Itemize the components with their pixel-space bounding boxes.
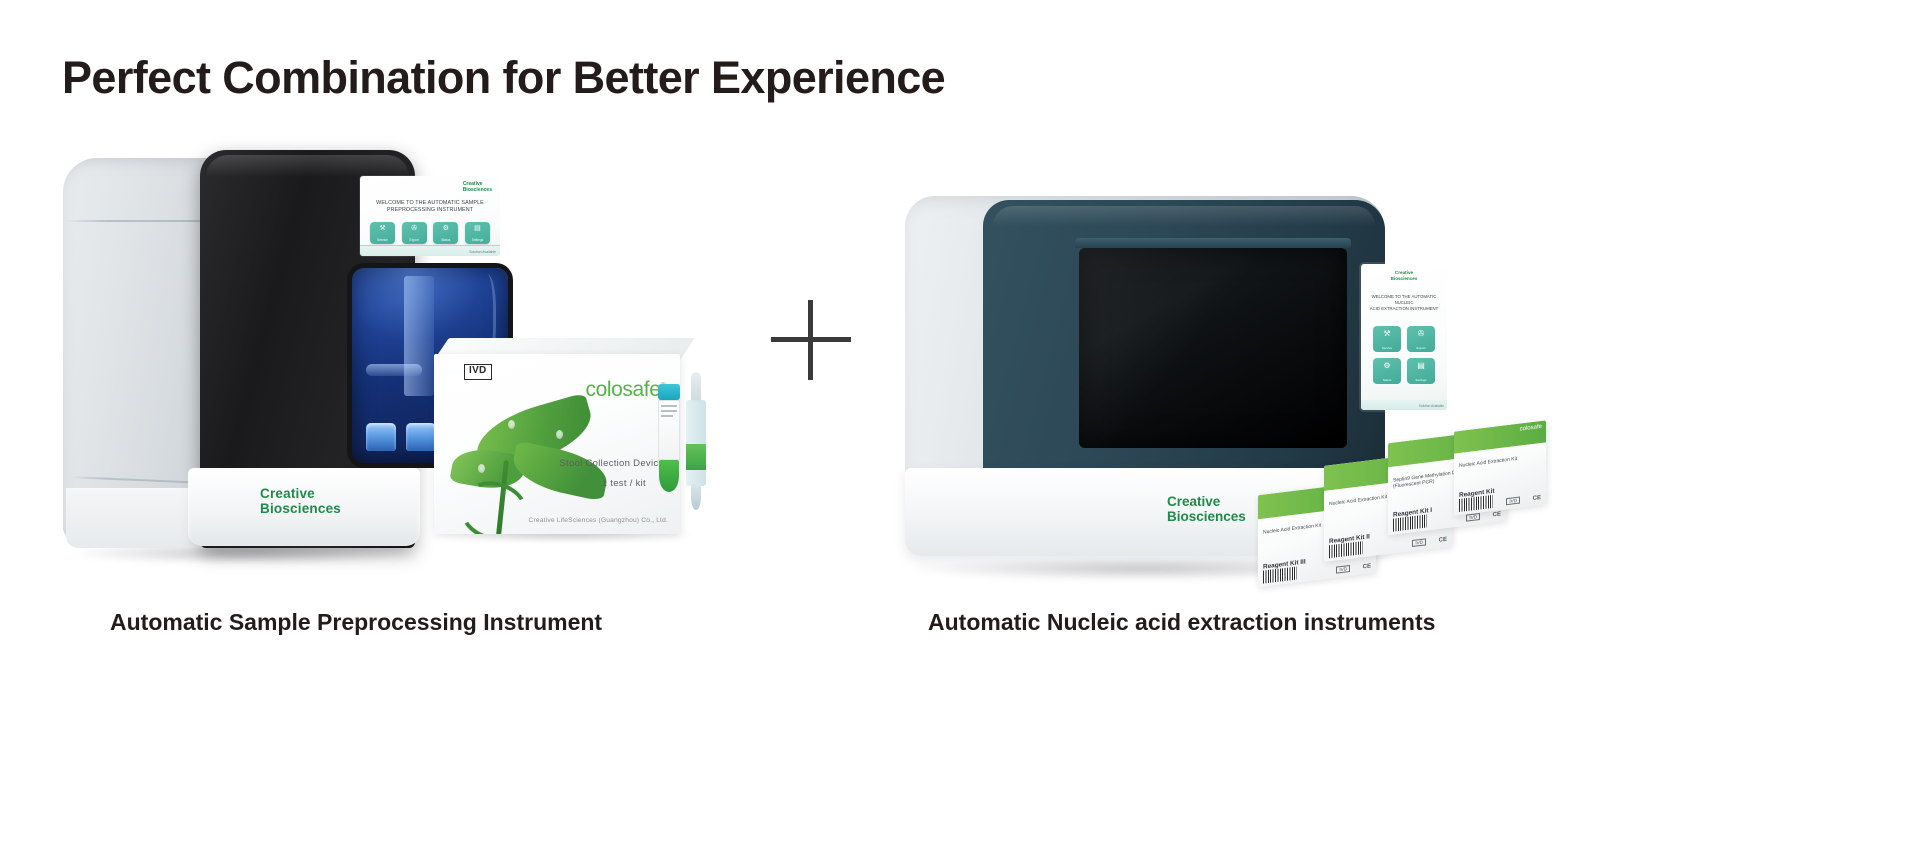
device-plunger: [691, 372, 701, 402]
tube-label: [658, 400, 680, 460]
screen-status-text: Solution Available: [1419, 404, 1444, 408]
instrument-touchscreen[interactable]: Creative Biosciences WELCOME TO THE AUTO…: [360, 176, 500, 256]
right-product-caption: Automatic Nucleic acid extraction instru…: [928, 609, 1435, 636]
sample-tube: [366, 423, 396, 451]
screen-brand-logo: Creative Biosciences: [463, 182, 492, 194]
dew-drop-icon: [508, 420, 515, 429]
screen-tile-service[interactable]: ⚒ Service: [370, 222, 395, 244]
brand-line-2: Biosciences: [1167, 509, 1246, 524]
tube-body: [659, 460, 679, 492]
screen-welcome-text: WELCOME TO THE AUTOMATIC SAMPLE PREPROCE…: [366, 200, 494, 215]
screen-status-bar: Solution Available: [360, 245, 500, 256]
kit-box-front-face: IVD colosafe® Stool Collection Device 1 …: [434, 354, 680, 534]
screen-tile-row: ⚒ Service ✇ Export ⚙ Status ▤ Settings: [370, 222, 490, 244]
screen-status-bar: Solution Available: [1361, 400, 1447, 410]
brand-text: colosafe: [585, 378, 660, 401]
screen-tile-status[interactable]: ⚙ Status: [1373, 358, 1401, 384]
screen-tile-label: Export: [402, 239, 427, 242]
screen-welcome-line-1: WELCOME TO THE AUTOMATIC SAMPLE: [366, 200, 494, 207]
instrument-viewing-window: [1079, 248, 1347, 448]
leaf-icon: [509, 440, 612, 501]
ivd-mark: IVD: [1336, 565, 1350, 574]
barcode-icon: [1459, 495, 1493, 512]
ivd-mark: IVD: [464, 364, 492, 380]
instrument-brand-logo: Creative Biosciences: [1167, 494, 1246, 524]
barcode-icon: [1329, 541, 1363, 558]
glass-reflection: [1079, 248, 1297, 448]
colosafe-kit-box: IVD colosafe® Stool Collection Device 1 …: [430, 338, 730, 548]
wrench-icon: ⚒: [1373, 330, 1401, 338]
kit-product-name: Stool Collection Device: [559, 458, 664, 469]
screen-tile-label: Service: [1373, 347, 1401, 350]
reagent-kit-stack: colosafe Nucleic Acid Extraction Kit Rea…: [1258, 428, 1548, 588]
device-barrel: [686, 400, 706, 486]
screen-welcome-line-2: PREPROCESSING INSTRUMENT: [366, 207, 494, 214]
screen-tile-export[interactable]: ✇ Export: [1407, 326, 1435, 352]
collection-tube: [658, 384, 680, 504]
screen-tile-settings[interactable]: ▤ Settings: [1407, 358, 1435, 384]
kit-title: Nucleic Acid Extraction Kit: [1459, 453, 1542, 469]
gear-icon: ⚙: [433, 225, 458, 232]
ce-mark: CE: [1493, 511, 1501, 518]
kit-quantity: 1 test / kit: [602, 478, 646, 489]
instrument-brand-logo: Creative Biosciences: [260, 486, 341, 516]
barcode-icon: [1393, 514, 1427, 531]
screen-tile-settings[interactable]: ▤ Settings: [465, 222, 490, 244]
barcode-icon: [1263, 566, 1297, 583]
kit-color-band: colosafe: [1454, 420, 1546, 453]
screen-tile-label: Settings: [465, 239, 490, 242]
screen-brand-logo: Creative Biosciences: [1361, 270, 1447, 281]
chamber-robotic-arm: [366, 364, 422, 376]
device-tip: [691, 484, 701, 510]
ivd-mark: IVD: [1466, 513, 1480, 522]
screen-tile-status[interactable]: ⚙ Status: [433, 222, 458, 244]
brand-line-2: Biosciences: [260, 501, 341, 516]
screen-tile-label: Status: [433, 239, 458, 242]
gear-icon: ⚙: [1373, 362, 1401, 370]
screen-tile-grid: ⚒ Service ✇ Export ⚙ Status ▤ Settings: [1373, 326, 1435, 384]
tube-cap: [658, 384, 680, 400]
screen-status-text: Solution Available: [469, 250, 496, 254]
instrument-touchscreen[interactable]: Creative Biosciences WELCOME TO THE AUTO…: [1361, 264, 1447, 410]
screen-tile-label: Settings: [1407, 379, 1435, 382]
kit-manufacturer: Creative LifeSciences (Guangzhou) Co., L…: [434, 517, 668, 524]
plus-divider-icon: [771, 300, 851, 380]
screen-welcome-line-1: WELCOME TO THE AUTOMATIC NUCLEIC: [1366, 294, 1442, 306]
device-label-band: [686, 444, 706, 470]
settings-icon: ▤: [465, 225, 490, 232]
export-icon: ✇: [402, 225, 427, 232]
dew-drop-icon: [556, 430, 563, 439]
ce-mark: CE: [1533, 495, 1541, 502]
instrument-base-panel: Creative Biosciences: [188, 468, 420, 546]
screen-tile-export[interactable]: ✇ Export: [402, 222, 427, 244]
settings-icon: ▤: [1407, 362, 1435, 370]
brand-line-1: Creative: [1167, 494, 1246, 509]
left-product-caption: Automatic Sample Preprocessing Instrumen…: [110, 609, 602, 636]
reagent-kit-box: colosafe Nucleic Acid Extraction Kit Rea…: [1454, 420, 1546, 515]
page-title: Perfect Combination for Better Experienc…: [62, 52, 945, 104]
screen-tile-service[interactable]: ⚒ Service: [1373, 326, 1401, 352]
colosafe-brand-logo: colosafe®: [585, 378, 666, 402]
sample-preprocessing-instrument: Creative Biosciences WELCOME TO THE AUTO…: [60, 150, 460, 570]
screen-brand-line-2: Biosciences: [1361, 276, 1447, 282]
collection-device: [686, 372, 706, 512]
ivd-mark: IVD: [1412, 538, 1426, 547]
colosafe-brand-logo: colosafe: [1520, 424, 1542, 433]
ce-mark: CE: [1439, 537, 1447, 544]
poster-canvas: Perfect Combination for Better Experienc…: [0, 0, 1920, 853]
ivd-mark: IVD: [1506, 497, 1520, 506]
brand-line-1: Creative: [260, 486, 341, 501]
screen-welcome-text: WELCOME TO THE AUTOMATIC NUCLEIC ACID EX…: [1366, 294, 1442, 312]
screen-tile-label: Status: [1373, 379, 1401, 382]
screen-tile-label: Service: [370, 239, 395, 242]
wrench-icon: ⚒: [370, 225, 395, 232]
screen-welcome-line-2: ACID EXTRACTION INSTRUMENT: [1366, 306, 1442, 312]
ce-mark: CE: [1363, 563, 1371, 570]
dew-drop-icon: [478, 464, 485, 473]
screen-tile-label: Export: [1407, 347, 1435, 350]
export-icon: ✇: [1407, 330, 1435, 338]
screen-brand-line-2: Biosciences: [463, 188, 492, 194]
door-hinge: [1075, 238, 1351, 248]
